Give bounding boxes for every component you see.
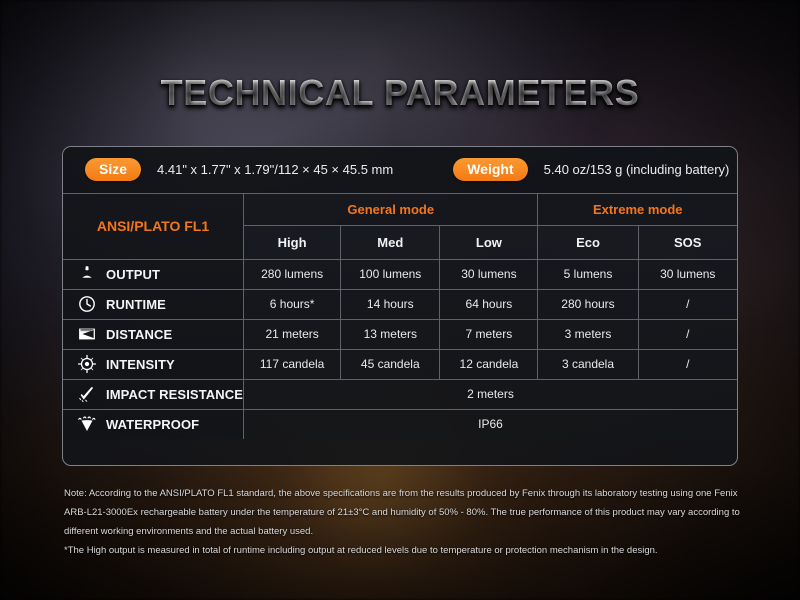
clock-icon [77, 294, 97, 314]
table-cell: 6 hours* [244, 289, 341, 319]
row-label-distance: DISTANCE [63, 319, 244, 349]
extreme-mode-header: Extreme mode [538, 193, 737, 225]
spec-table-panel: Size 4.41" x 1.77" x 1.79"/112 × 45 × 45… [62, 146, 738, 466]
table-cell-impact-value: 2 meters [244, 379, 737, 409]
beam-distance-icon [77, 324, 97, 344]
size-weight-row: Size 4.41" x 1.77" x 1.79"/112 × 45 × 45… [63, 147, 737, 193]
column-header-med: Med [341, 225, 440, 259]
table-cell: 64 hours [440, 289, 538, 319]
table-row: RUNTIME 6 hours* 14 hours 64 hours 280 h… [63, 289, 737, 319]
waterdrop-icon [77, 414, 97, 434]
column-header-sos: SOS [638, 225, 737, 259]
table-cell: 100 lumens [341, 259, 440, 289]
footnote-line: Note: According to the ANSI/PLATO FL1 st… [64, 484, 740, 503]
table-cell: 3 candela [538, 349, 638, 379]
footnote-line: different working environments and the a… [64, 522, 740, 541]
row-label-runtime: RUNTIME [63, 289, 244, 319]
row-label-text: DISTANCE [106, 327, 172, 342]
column-header-eco: Eco [538, 225, 638, 259]
ansi-plato-label: ANSI/PLATO FL1 [63, 193, 244, 259]
page-title: TECHNICAL PARAMETERS [161, 72, 640, 114]
table-row: OUTPUT 280 lumens 100 lumens 30 lumens 5… [63, 259, 737, 289]
size-value: 4.41" x 1.77" x 1.79"/112 × 45 × 45.5 mm [157, 162, 393, 177]
table-cell: 5 lumens [538, 259, 638, 289]
table-cell: / [638, 349, 737, 379]
general-mode-header: General mode [244, 193, 538, 225]
light-burst-icon [77, 264, 97, 284]
table-cell: 12 candela [440, 349, 538, 379]
column-header-low: Low [440, 225, 538, 259]
weight-value: 5.40 oz/153 g (including battery) [544, 162, 730, 177]
table-cell: / [638, 289, 737, 319]
size-badge: Size [85, 158, 141, 181]
impact-drop-icon [77, 384, 97, 404]
table-cell-waterproof-value: IP66 [244, 409, 737, 439]
table-cell: 14 hours [341, 289, 440, 319]
table-row: WATERPROOF IP66 [63, 409, 737, 439]
row-label-output: OUTPUT [63, 259, 244, 289]
title-container: TECHNICAL PARAMETERS [0, 72, 800, 114]
row-label-text: INTENSITY [106, 357, 175, 372]
table-row: DISTANCE 21 meters 13 meters 7 meters 3 … [63, 319, 737, 349]
table-cell: 45 candela [341, 349, 440, 379]
table-cell: 280 lumens [244, 259, 341, 289]
row-label-waterproof: WATERPROOF [63, 409, 244, 439]
mode-group-header-row: ANSI/PLATO FL1 General mode Extreme mode [63, 193, 737, 225]
row-label-impact-resistance: IMPACT RESISTANCE [63, 379, 244, 409]
weight-badge: Weight [453, 158, 527, 181]
table-cell: 30 lumens [440, 259, 538, 289]
footnotes: Note: According to the ANSI/PLATO FL1 st… [64, 484, 740, 560]
footnote-line: ARB-L21-3000Ex rechargeable battery unde… [64, 503, 740, 522]
crosshair-icon [77, 354, 97, 374]
spec-table: Size 4.41" x 1.77" x 1.79"/112 × 45 × 45… [63, 147, 737, 439]
footnote-line: *The High output is measured in total of… [64, 541, 740, 560]
table-row: IMPACT RESISTANCE 2 meters [63, 379, 737, 409]
table-cell: 3 meters [538, 319, 638, 349]
table-row: INTENSITY 117 candela 45 candela 12 cand… [63, 349, 737, 379]
column-header-high: High [244, 225, 341, 259]
row-label-text: IMPACT RESISTANCE [106, 387, 243, 402]
table-cell: 30 lumens [638, 259, 737, 289]
table-cell: 21 meters [244, 319, 341, 349]
row-label-text: WATERPROOF [106, 417, 199, 432]
table-cell: 7 meters [440, 319, 538, 349]
row-label-intensity: INTENSITY [63, 349, 244, 379]
table-cell: / [638, 319, 737, 349]
table-cell: 13 meters [341, 319, 440, 349]
table-cell: 117 candela [244, 349, 341, 379]
size-weight-cell: Size 4.41" x 1.77" x 1.79"/112 × 45 × 45… [63, 147, 737, 193]
row-label-text: OUTPUT [106, 267, 160, 282]
row-label-text: RUNTIME [106, 297, 166, 312]
table-cell: 280 hours [538, 289, 638, 319]
